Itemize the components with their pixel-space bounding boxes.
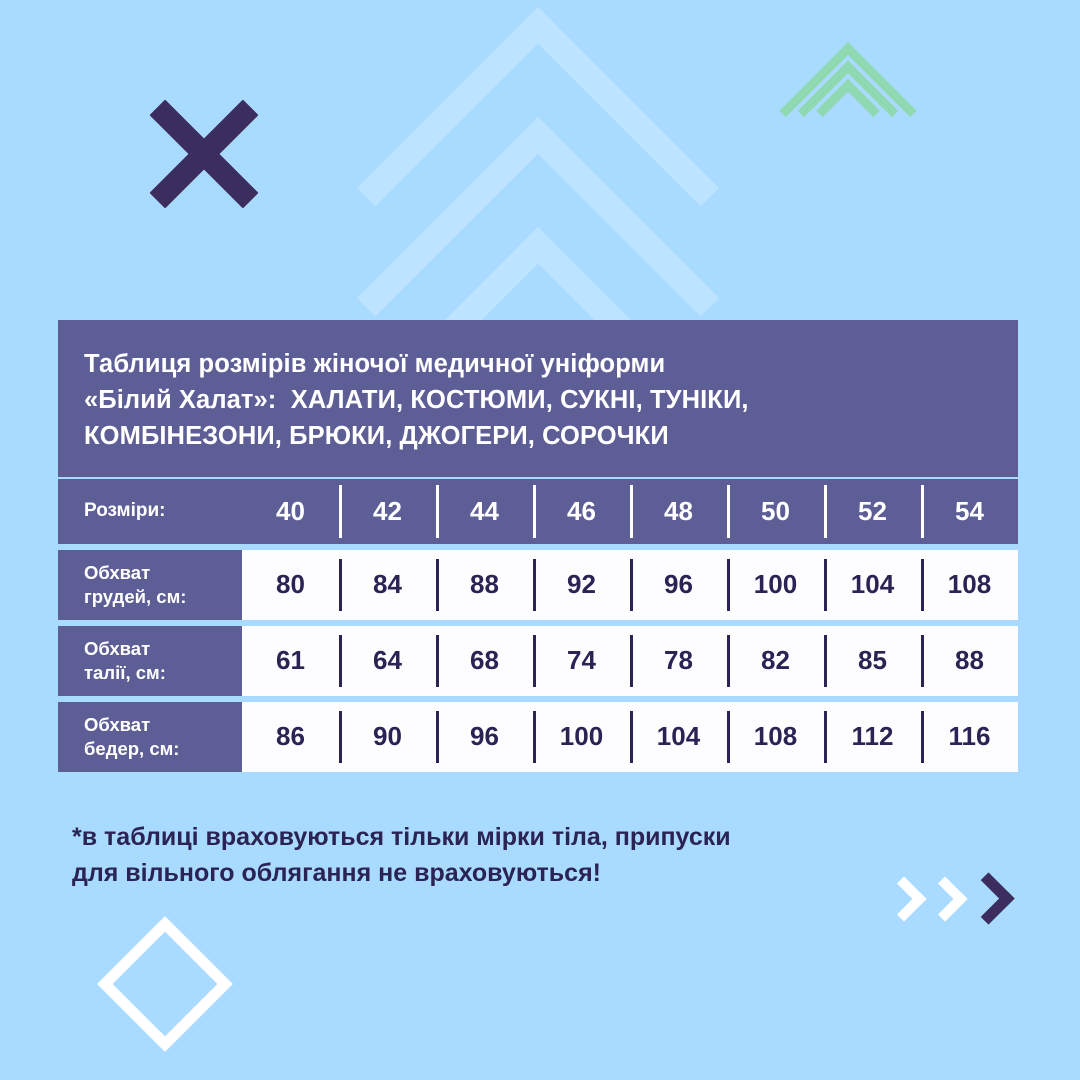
table-cell: 96 (630, 550, 727, 620)
table-cell: 64 (339, 626, 436, 696)
table-title-line-3: КОМБІНЕЗОНИ, БРЮКИ, ДЖОГЕРИ, СОРОЧКИ (84, 418, 992, 454)
row-label-line-1: Обхват (84, 713, 242, 737)
table-cell: 74 (533, 626, 630, 696)
row-label-line-1: Обхват (84, 637, 242, 661)
row-label-line-2: талії, см: (84, 661, 242, 685)
table-cell: 92 (533, 550, 630, 620)
table-cell: 61 (242, 626, 339, 696)
table-title-block: Таблиця розмірів жіночої медичної уніфор… (58, 320, 1018, 477)
table-cell: 116 (921, 702, 1018, 772)
row-label-line-2: грудей, см: (84, 585, 242, 609)
header-size-cell: 48 (630, 479, 727, 544)
table-cell: 86 (242, 702, 339, 772)
table-cell: 68 (436, 626, 533, 696)
table-cell: 82 (727, 626, 824, 696)
header-size-cell: 46 (533, 479, 630, 544)
x-mark-icon (150, 100, 258, 208)
table-cell: 100 (727, 550, 824, 620)
table-cell: 78 (630, 626, 727, 696)
table-cell: 112 (824, 702, 921, 772)
header-size-cell: 44 (436, 479, 533, 544)
table-cell: 85 (824, 626, 921, 696)
header-label: Розміри: (58, 479, 242, 544)
chevron-right-icon (962, 872, 1014, 924)
footnote-text: *в таблиці враховуються тільки мірки тіл… (72, 820, 952, 891)
row-label-line-1: Обхват (84, 561, 242, 585)
table-cell: 88 (921, 626, 1018, 696)
header-size-cell: 52 (824, 479, 921, 544)
row-values: 61 64 68 74 78 82 85 88 (242, 626, 1018, 696)
table-row: Обхват талії, см: 61 64 68 74 78 82 85 8… (58, 626, 1018, 696)
table-cell: 80 (242, 550, 339, 620)
row-label: Обхват бедер, см: (58, 702, 242, 772)
size-table: Таблиця розмірів жіночої медичної уніфор… (58, 320, 1018, 772)
header-size-cell: 54 (921, 479, 1018, 544)
row-label-line-2: бедер, см: (84, 737, 242, 761)
table-row: Обхват бедер, см: 86 90 96 100 104 108 1… (58, 702, 1018, 772)
table-cell: 90 (339, 702, 436, 772)
table-title-line-2: «Білий Халат»: ХАЛАТИ, КОСТЮМИ, СУКНІ, Т… (84, 382, 992, 418)
table-cell: 104 (824, 550, 921, 620)
header-size-cell: 50 (727, 479, 824, 544)
row-label: Обхват грудей, см: (58, 550, 242, 620)
table-header-row: Розміри: 40 42 44 46 48 50 52 54 (58, 479, 1018, 544)
row-label: Обхват талії, см: (58, 626, 242, 696)
table-cell: 88 (436, 550, 533, 620)
row-values: 80 84 88 92 96 100 104 108 (242, 550, 1018, 620)
table-cell: 104 (630, 702, 727, 772)
table-cell: 100 (533, 702, 630, 772)
table-cell: 108 (727, 702, 824, 772)
table-cell: 84 (339, 550, 436, 620)
header-size-cell: 40 (242, 479, 339, 544)
table-title-line-1: Таблиця розмірів жіночої медичної уніфор… (84, 346, 992, 382)
table-row: Обхват грудей, см: 80 84 88 92 96 100 10… (58, 550, 1018, 620)
header-size-cell: 42 (339, 479, 436, 544)
row-values: 86 90 96 100 104 108 112 116 (242, 702, 1018, 772)
table-cell: 96 (436, 702, 533, 772)
table-cell: 108 (921, 550, 1018, 620)
